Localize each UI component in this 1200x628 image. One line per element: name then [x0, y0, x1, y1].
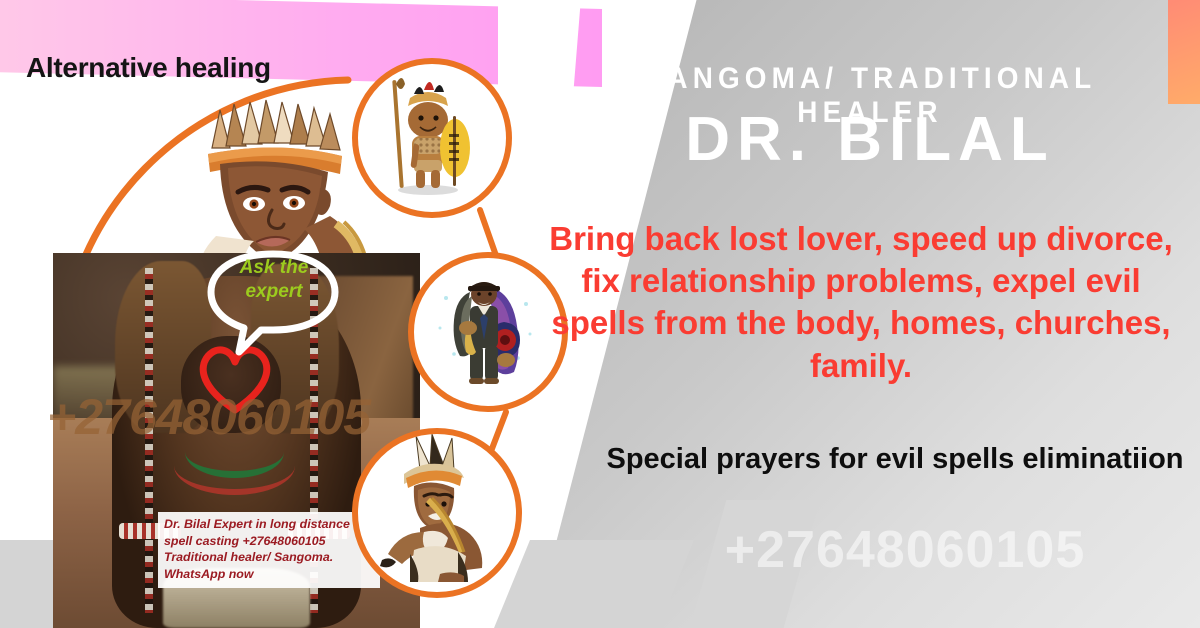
badge-zulu-warrior — [352, 58, 512, 218]
top-right-salmon-bar — [1168, 0, 1200, 104]
secondary-offer-text: Special prayers for evil spells eliminat… — [600, 440, 1190, 479]
ask-the-expert-text: Ask the expert — [222, 256, 326, 304]
badge-crouching-warrior — [352, 428, 522, 598]
crouching-warrior-icon — [358, 434, 506, 582]
zulu-warrior-icon — [358, 64, 498, 204]
services-text: Bring back lost lover, speed up divorce,… — [536, 218, 1186, 387]
healer-name: DR. BILAL — [560, 104, 1180, 175]
poster-canvas: Alternative healing — [0, 0, 1200, 628]
right-watermark-phone: +27648060105 — [620, 520, 1190, 580]
healer-in-cloak-icon — [414, 258, 554, 398]
